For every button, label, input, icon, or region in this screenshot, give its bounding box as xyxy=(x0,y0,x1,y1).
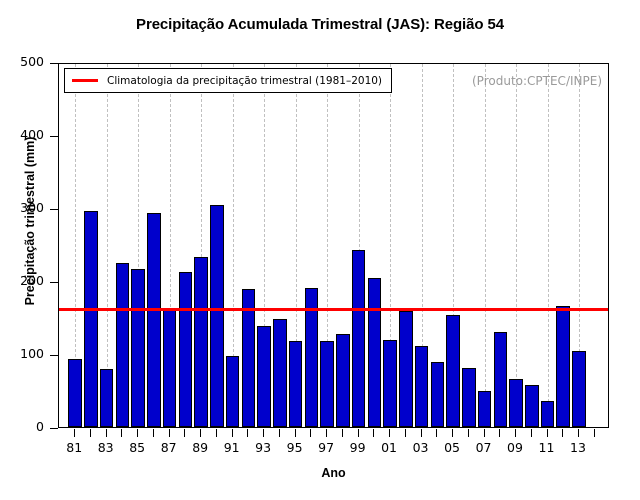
x-tick-mark xyxy=(405,429,406,437)
bar-2002 xyxy=(399,311,413,427)
x-tick-mark xyxy=(421,429,422,437)
x-tick-mark xyxy=(200,429,201,437)
x-tick-mark xyxy=(121,429,122,437)
bar-2008 xyxy=(494,332,508,427)
x-tick-label: 01 xyxy=(374,440,404,455)
x-tick-label: 03 xyxy=(406,440,436,455)
x-tick-label: 89 xyxy=(185,440,215,455)
bar-1989 xyxy=(194,257,208,427)
x-tick-mark xyxy=(515,429,516,437)
legend-line-swatch xyxy=(72,79,98,82)
x-tick-mark xyxy=(153,429,154,437)
bar-1999 xyxy=(352,250,366,427)
x-tick-label: 97 xyxy=(311,440,341,455)
bar-1985 xyxy=(131,269,145,427)
x-tick-mark xyxy=(74,429,75,437)
x-tick-mark xyxy=(436,429,437,437)
x-tick-mark xyxy=(342,429,343,437)
bar-2003 xyxy=(415,346,429,427)
x-tick-mark xyxy=(562,429,563,437)
x-tick-label: 07 xyxy=(469,440,499,455)
bar-1988 xyxy=(179,272,193,427)
bar-1986 xyxy=(147,213,161,427)
y-tick-label: 0 xyxy=(36,419,44,434)
x-tick-mark xyxy=(468,429,469,437)
x-tick-mark xyxy=(547,429,548,437)
page-title: Precipitação Acumulada Trimestral (JAS):… xyxy=(0,16,640,33)
x-tick-mark xyxy=(216,429,217,437)
x-tick-mark xyxy=(373,429,374,437)
x-tick-mark xyxy=(484,429,485,437)
x-tick-mark xyxy=(499,429,500,437)
x-tick-mark xyxy=(389,429,390,437)
x-tick-label: 81 xyxy=(59,440,89,455)
legend: Climatologia da precipitação trimestral … xyxy=(64,68,392,93)
produto-credit: (Produto:CPTEC/INPE) xyxy=(472,74,602,88)
x-tick-mark xyxy=(594,429,595,437)
y-tick-mark xyxy=(50,282,58,283)
y-tick-mark xyxy=(50,428,58,429)
bar-1998 xyxy=(336,334,350,427)
x-tick-mark xyxy=(295,429,296,437)
bar-1982 xyxy=(84,211,98,427)
bar-1991 xyxy=(226,356,240,427)
climatology-reference-line xyxy=(59,308,608,311)
x-tick-mark xyxy=(263,429,264,437)
bar-1987 xyxy=(163,308,177,427)
bar-1994 xyxy=(273,319,287,427)
bar-2009 xyxy=(509,379,523,427)
x-tick-mark xyxy=(184,429,185,437)
bar-2012 xyxy=(556,306,570,427)
x-tick-mark xyxy=(279,429,280,437)
x-tick-mark xyxy=(232,429,233,437)
bars-layer xyxy=(59,64,608,427)
x-tick-label: 09 xyxy=(500,440,530,455)
x-tick-mark xyxy=(310,429,311,437)
bar-2005 xyxy=(446,315,460,427)
x-tick-label: 91 xyxy=(217,440,247,455)
bar-1981 xyxy=(68,359,82,427)
x-axis-title: Ano xyxy=(58,466,609,480)
x-tick-label: 95 xyxy=(280,440,310,455)
bar-2010 xyxy=(525,385,539,427)
x-tick-label: 13 xyxy=(563,440,593,455)
x-tick-mark xyxy=(578,429,579,437)
x-tick-mark xyxy=(169,429,170,437)
x-tick-mark xyxy=(106,429,107,437)
bar-1990 xyxy=(210,205,224,427)
y-tick-mark xyxy=(50,355,58,356)
bar-2007 xyxy=(478,391,492,427)
bar-2006 xyxy=(462,368,476,427)
legend-label: Climatologia da precipitação trimestral … xyxy=(107,75,382,87)
x-tick-mark xyxy=(358,429,359,437)
x-tick-label: 11 xyxy=(532,440,562,455)
x-tick-label: 05 xyxy=(437,440,467,455)
bar-2011 xyxy=(541,401,555,427)
bar-2013 xyxy=(572,351,586,427)
bar-2004 xyxy=(431,362,445,427)
bar-1993 xyxy=(257,326,271,427)
bar-2000 xyxy=(368,278,382,427)
x-tick-label: 87 xyxy=(154,440,184,455)
x-tick-mark xyxy=(452,429,453,437)
bar-1995 xyxy=(289,341,303,427)
y-tick-mark xyxy=(50,209,58,210)
x-tick-label: 99 xyxy=(343,440,373,455)
x-tick-label: 83 xyxy=(91,440,121,455)
bar-1997 xyxy=(320,341,334,427)
y-tick-mark xyxy=(50,136,58,137)
y-axis-title: Precipitação trimestral (mm) xyxy=(23,61,37,381)
y-tick-mark xyxy=(50,63,58,64)
bar-2001 xyxy=(383,340,397,427)
x-tick-mark xyxy=(326,429,327,437)
bar-1984 xyxy=(116,263,130,427)
precipitation-bar-chart: Precipitação Acumulada Trimestral (JAS):… xyxy=(0,0,640,500)
x-tick-mark xyxy=(90,429,91,437)
plot-area: Climatologia da precipitação trimestral … xyxy=(58,63,609,428)
x-tick-label: 93 xyxy=(248,440,278,455)
x-tick-label: 85 xyxy=(122,440,152,455)
bar-1983 xyxy=(100,369,114,427)
x-tick-mark xyxy=(137,429,138,437)
x-tick-mark xyxy=(531,429,532,437)
x-tick-mark xyxy=(247,429,248,437)
